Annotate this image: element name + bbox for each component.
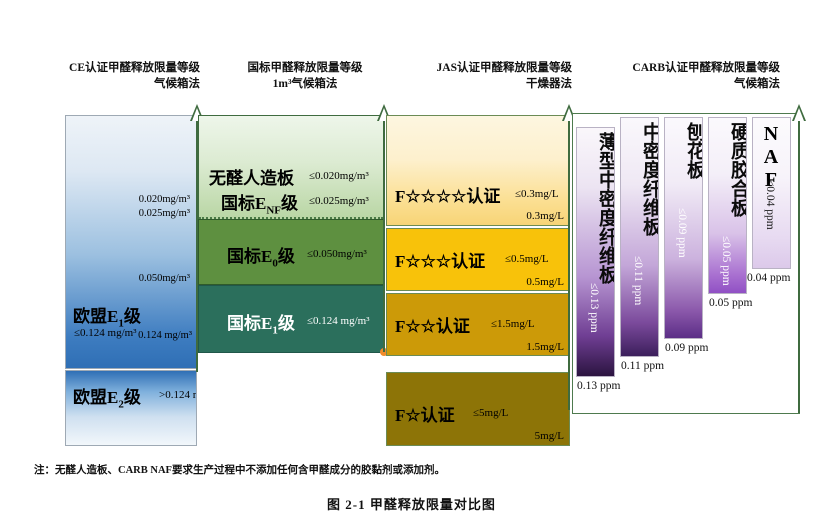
ce-tick-0020: 0.020mg/m³	[80, 194, 190, 205]
carb-bar-particleboard-value: ≤0.09 ppm	[676, 208, 688, 258]
carb-axis-arrow-head	[792, 104, 806, 121]
carb-bar-particleboard: 刨花板 ≤0.09 ppm	[664, 117, 703, 339]
gb-band-e1-value: ≤0.124 mg/m³	[307, 315, 370, 327]
header-carb-line1: CARB认证甲醛释放限量等级	[600, 60, 780, 76]
gb-axis-arrow-shaft	[383, 120, 385, 352]
carb-bar-hardwood-plywood-value: ≤0.05 ppm	[720, 236, 732, 286]
ce-band-e2: 欧盟E2级 >0.124 mg/m³	[65, 370, 197, 446]
gb-band-nf: 无醛人造板 ≤0.020mg/m³ 国标ENF级 ≤0.025mg/m³	[198, 115, 384, 219]
jas-band-f4-foot: 0.3mg/L	[526, 210, 564, 222]
jas-band-f4-value: ≤0.3mg/L	[515, 188, 559, 200]
header-jas: JAS认证甲醛释放限量等级 干燥器法	[400, 60, 572, 92]
carb-bar-naf-value: ≤0.04 ppm	[764, 180, 776, 230]
carb-bar-thin-mdf: 薄型中密度纤维板 ≤0.13 ppm	[576, 127, 615, 377]
figure-note: 注：无醛人造板、CARB NAF要求生产过程中不添加任何含甲醛成分的胶黏剂或添加…	[34, 462, 445, 477]
ce-tick-0050: 0.050mg/m³	[80, 273, 190, 284]
carb-bar-naf: NAF ≤0.04 ppm	[752, 117, 791, 269]
ce-band-e2-label: 欧盟E2级	[73, 383, 141, 410]
carb-bar-hardwood-plywood-label: 硬质胶合板	[712, 118, 747, 217]
carb-bar-hardwood-plywood: 硬质胶合板 ≤0.05 ppm	[708, 117, 747, 294]
carb-bar-thin-mdf-foot: 0.13 ppm	[577, 380, 620, 392]
gb-band-wuquan-label: 无醛人造板	[209, 164, 294, 189]
jas-band-f2-value: ≤1.5mg/L	[491, 318, 535, 330]
jas-band-f3: F☆☆☆认证 ≤0.5mg/L 0.5mg/L	[386, 228, 570, 291]
ce-band-e1-label: 欧盟E1级	[73, 302, 141, 329]
jas-band-f1-value: ≤5mg/L	[473, 407, 508, 419]
figure-canvas: CE认证甲醛释放限量等级 气候箱法 国标甲醛释放限量等级 1m³气候箱法 JAS…	[0, 0, 837, 517]
jas-band-f4-label: F☆☆☆☆认证	[395, 182, 500, 207]
carb-bar-mdf-label: 中密度纤维板	[624, 118, 659, 236]
header-gb-line1: 国标甲醛释放限量等级	[225, 60, 385, 76]
gb-band-e1: 国标E1级 ≤0.124 mg/m³	[198, 285, 384, 353]
header-carb: CARB认证甲醛释放限量等级 气候箱法	[600, 60, 780, 92]
carb-bar-mdf-foot: 0.11 ppm	[621, 360, 664, 372]
jas-band-f3-value: ≤0.5mg/L	[505, 253, 549, 265]
jas-band-f2: F☆☆认证 ≤1.5mg/L 1.5mg/L	[386, 293, 570, 356]
header-ce: CE认证甲醛释放限量等级 气候箱法	[28, 60, 200, 92]
jas-band-f1-label: F☆认证	[395, 401, 455, 426]
gb-band-e0-value: ≤0.050mg/m³	[307, 248, 367, 260]
jas-band-f3-label: F☆☆☆认证	[395, 247, 485, 272]
gb-band-e0: 国标E0级 ≤0.050mg/m³	[198, 219, 384, 285]
header-ce-line1: CE认证甲醛释放限量等级	[28, 60, 200, 76]
ce-tick-0124: 0.124 mg/m³	[80, 330, 192, 341]
carb-axis-arrow-shaft	[798, 120, 800, 413]
carb-bar-thin-mdf-label: 薄型中密度纤维板	[580, 128, 615, 284]
jas-band-f1: F☆认证 ≤5mg/L 5mg/L	[386, 372, 570, 446]
jas-band-f2-foot: 1.5mg/L	[526, 341, 564, 353]
gb-band-enf-value: ≤0.025mg/m³	[309, 195, 369, 207]
jas-axis-arrow-shaft	[568, 120, 570, 410]
gb-band-e1-label: 国标E1级	[227, 309, 295, 336]
gb-band-e0-label: 国标E0级	[227, 242, 295, 269]
carb-bar-mdf-value: ≤0.11 ppm	[632, 256, 644, 305]
header-gb-line2: 1m³气候箱法	[225, 76, 385, 92]
gb-band-enf-label: 国标ENF级	[221, 189, 298, 216]
carb-bar-hardwood-plywood-foot: 0.05 ppm	[709, 297, 752, 309]
ce-tick-0025: 0.025mg/m³	[80, 208, 190, 219]
header-ce-line2: 气候箱法	[28, 76, 200, 92]
header-carb-line2: 气候箱法	[600, 76, 780, 92]
jas-band-f2-label: F☆☆认证	[395, 312, 470, 337]
figure-caption: 图 2-1 甲醛释放限量对比图	[327, 494, 496, 513]
carb-bar-particleboard-foot: 0.09 ppm	[665, 342, 708, 354]
ce-band-e2-value: >0.124 mg/m³	[159, 389, 197, 401]
jas-band-f3-foot: 0.5mg/L	[526, 276, 564, 288]
carb-bar-particleboard-label: 刨花板	[668, 118, 703, 179]
carb-bar-mdf: 中密度纤维板 ≤0.11 ppm	[620, 117, 659, 357]
carb-bar-naf-foot: 0.04 ppm	[747, 272, 790, 284]
carb-bar-thin-mdf-value: ≤0.13 ppm	[588, 283, 600, 333]
gb-band-wuquan-value: ≤0.020mg/m³	[309, 170, 369, 182]
header-gb: 国标甲醛释放限量等级 1m³气候箱法	[225, 60, 385, 92]
jas-band-f4: F☆☆☆☆认证 ≤0.3mg/L 0.3mg/L	[386, 115, 570, 226]
jas-band-f1-foot: 5mg/L	[535, 430, 564, 442]
header-jas-line2: 干燥器法	[400, 76, 572, 92]
header-jas-line1: JAS认证甲醛释放限量等级	[400, 60, 572, 76]
